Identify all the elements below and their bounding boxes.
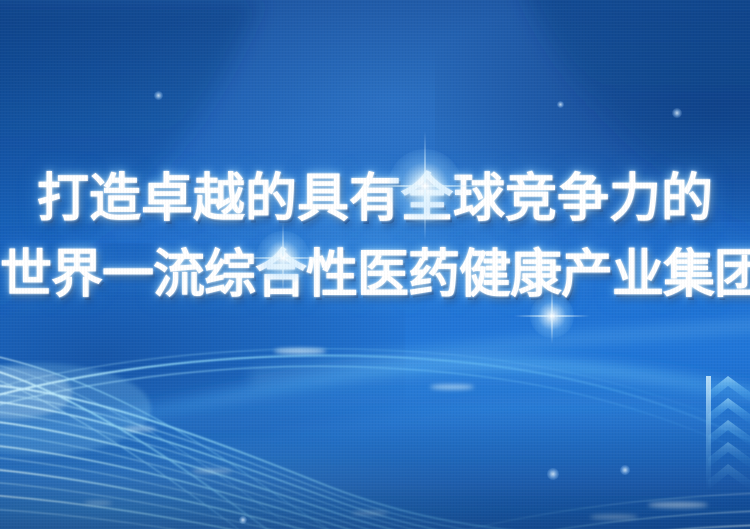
headline-line-2: 世界一流综合性医药健康产业集团	[0, 242, 750, 308]
hero-banner: 打造卓越的具有全球竞争力的 世界一流综合性医药健康产业集团	[0, 0, 750, 529]
light-streak-waves	[0, 289, 750, 529]
headline-line-1: 打造卓越的具有全球竞争力的	[0, 168, 750, 230]
headline-block: 打造卓越的具有全球竞争力的 世界一流综合性医药健康产业集团	[0, 168, 750, 308]
